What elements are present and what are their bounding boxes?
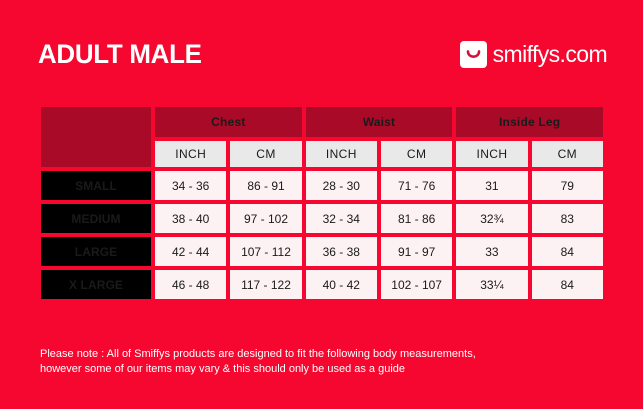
unit-chest-inch: INCH	[155, 141, 226, 167]
value-x-large-waist-inch: 40 - 42	[306, 270, 377, 299]
footer-disclaimer: Please note : All of Smiffys products ar…	[40, 347, 610, 377]
value-x-large-waist-cm: 102 - 107	[381, 270, 452, 299]
size-label-x-large: X LARGE	[41, 270, 151, 299]
table-group-header-row: Chest Waist Inside Leg	[41, 107, 603, 137]
value-x-large-inseam-cm: 84	[532, 270, 603, 299]
size-chart-table: Chest Waist Inside Leg INCH CM INCH CM I…	[37, 103, 607, 303]
unit-waist-inch: INCH	[306, 141, 377, 167]
column-group-waist: Waist	[306, 107, 453, 137]
value-large-chest-cm: 107 - 112	[230, 237, 301, 266]
value-x-large-chest-cm: 117 - 122	[230, 270, 301, 299]
unit-inside-leg-cm: CM	[532, 141, 603, 167]
value-medium-waist-cm: 81 - 86	[381, 204, 452, 233]
value-x-large-chest-inch: 46 - 48	[155, 270, 226, 299]
table-row: MEDIUM 38 - 40 97 - 102 32 - 34 81 - 86 …	[41, 204, 603, 233]
brand-logo: smiffys.com	[460, 41, 607, 68]
value-large-waist-inch: 36 - 38	[306, 237, 377, 266]
value-large-inseam-inch: 33	[456, 237, 527, 266]
unit-chest-cm: CM	[230, 141, 301, 167]
table-corner-cell	[41, 107, 151, 167]
table-row: SMALL 34 - 36 86 - 91 28 - 30 71 - 76 31…	[41, 171, 603, 200]
value-medium-inseam-inch: 32¾	[456, 204, 527, 233]
page-title: ADULT MALE	[38, 41, 202, 68]
smile-check-icon	[460, 41, 487, 68]
unit-inside-leg-inch: INCH	[456, 141, 527, 167]
footer-line-1: Please note : All of Smiffys products ar…	[40, 347, 610, 362]
brand-name: smiffys.com	[493, 43, 607, 66]
value-medium-waist-inch: 32 - 34	[306, 204, 377, 233]
value-large-inseam-cm: 84	[532, 237, 603, 266]
value-large-waist-cm: 91 - 97	[381, 237, 452, 266]
footer-line-2: however some of our items may vary & thi…	[40, 362, 610, 377]
value-large-chest-inch: 42 - 44	[155, 237, 226, 266]
value-medium-chest-inch: 38 - 40	[155, 204, 226, 233]
value-small-waist-cm: 71 - 76	[381, 171, 452, 200]
size-label-large: LARGE	[41, 237, 151, 266]
table-row: LARGE 42 - 44 107 - 112 36 - 38 91 - 97 …	[41, 237, 603, 266]
value-small-inseam-inch: 31	[456, 171, 527, 200]
table-row: X LARGE 46 - 48 117 - 122 40 - 42 102 - …	[41, 270, 603, 299]
value-medium-inseam-cm: 83	[532, 204, 603, 233]
value-small-chest-inch: 34 - 36	[155, 171, 226, 200]
size-label-small: SMALL	[41, 171, 151, 200]
value-small-inseam-cm: 79	[532, 171, 603, 200]
value-small-chest-cm: 86 - 91	[230, 171, 301, 200]
page-header: ADULT MALE smiffys.com	[0, 0, 643, 103]
column-group-inside-leg: Inside Leg	[456, 107, 603, 137]
value-medium-chest-cm: 97 - 102	[230, 204, 301, 233]
size-label-medium: MEDIUM	[41, 204, 151, 233]
value-small-waist-inch: 28 - 30	[306, 171, 377, 200]
value-x-large-inseam-inch: 33¼	[456, 270, 527, 299]
column-group-chest: Chest	[155, 107, 302, 137]
unit-waist-cm: CM	[381, 141, 452, 167]
